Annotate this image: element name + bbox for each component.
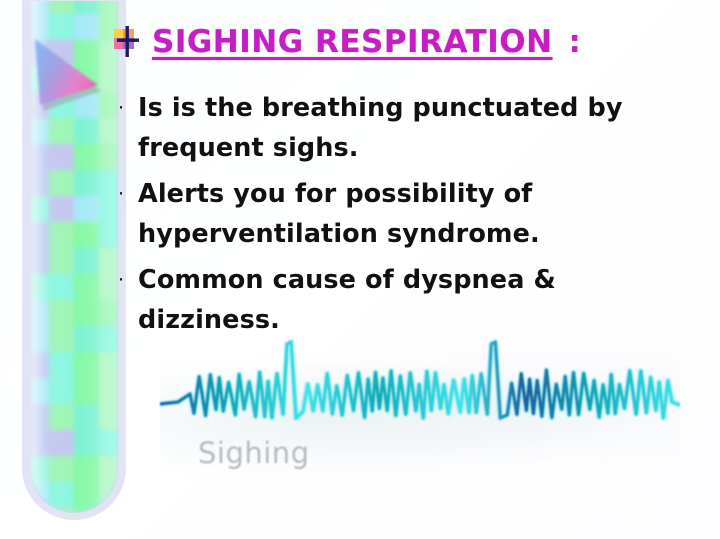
list-item: · Is is the breathing punctuated by freq…: [118, 88, 658, 168]
bullet-marker: ·: [118, 260, 138, 300]
bullet-text: Alerts you for possibility of hyperventi…: [138, 174, 540, 254]
bullet-line: hyperventilation syndrome.: [138, 219, 540, 249]
bullet-line: Is is the breathing punctuated by: [138, 93, 623, 123]
list-item: · Alerts you for possibility of hyperven…: [118, 174, 658, 254]
bullet-line: Common cause of dyspnea &: [138, 265, 556, 295]
presentation-slide: SIGHING RESPIRATION : · Is is the breath…: [0, 0, 720, 539]
title-colon: :: [569, 24, 581, 60]
page-title: SIGHING RESPIRATION: [152, 24, 553, 60]
respiration-waveform: [160, 328, 680, 448]
slide-title-row: SIGHING RESPIRATION :: [112, 24, 581, 60]
bullet-marker: ·: [118, 174, 138, 214]
bullet-line: frequent sighs.: [138, 133, 359, 163]
bullet-text: Is is the breathing punctuated by freque…: [138, 88, 623, 168]
bullet-marker: ·: [118, 88, 138, 128]
colorful-cross-icon: [112, 25, 142, 59]
bullet-list: · Is is the breathing punctuated by freq…: [118, 88, 658, 346]
figure-caption: Sighing: [198, 436, 310, 470]
waveform-figure: Sighing: [160, 328, 680, 503]
bullet-line: Alerts you for possibility of: [138, 179, 532, 209]
